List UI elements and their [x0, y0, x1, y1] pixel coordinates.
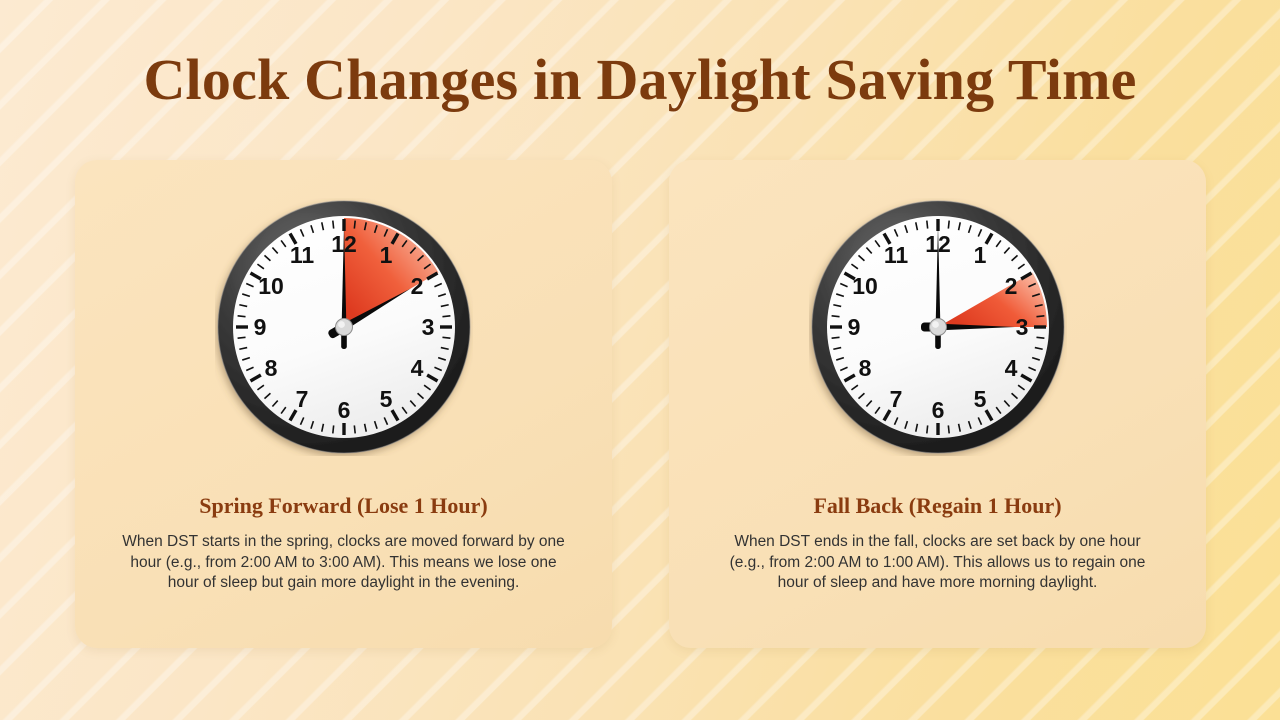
page-title: Clock Changes in Daylight Saving Time	[0, 48, 1280, 112]
svg-text:2: 2	[1004, 273, 1017, 299]
svg-text:10: 10	[258, 273, 284, 299]
card-heading-spring-forward: Spring Forward (Lose 1 Hour)	[93, 492, 594, 520]
svg-text:7: 7	[295, 386, 308, 412]
svg-text:7: 7	[889, 386, 902, 412]
card-body-fall-back: When DST ends in the fall, clocks are se…	[715, 532, 1160, 594]
svg-text:8: 8	[858, 355, 871, 381]
card-heading-fall-back: Fall Back (Regain 1 Hour)	[687, 492, 1188, 520]
svg-text:11: 11	[289, 242, 314, 268]
svg-text:1: 1	[973, 242, 986, 268]
card-body-spring-forward: When DST starts in the spring, clocks ar…	[113, 532, 574, 594]
svg-text:3: 3	[421, 314, 434, 340]
svg-text:5: 5	[973, 386, 986, 412]
card-fall-back: 12 1 2 3 4 5 6 7 8 9 10 11	[669, 160, 1206, 648]
card-spring-forward: 12 1 2 3 4 5 6 7 8 9 10 11	[75, 160, 612, 648]
svg-text:5: 5	[379, 386, 392, 412]
svg-text:6: 6	[337, 397, 350, 423]
svg-text:1: 1	[379, 242, 392, 268]
svg-text:4: 4	[410, 355, 423, 381]
svg-text:2: 2	[410, 273, 423, 299]
svg-text:9: 9	[847, 314, 860, 340]
svg-text:10: 10	[852, 273, 878, 299]
clock-spring-forward: 12 1 2 3 4 5 6 7 8 9 10 11	[215, 198, 473, 456]
analog-clock-fall-back-svg: 12 1 2 3 4 5 6 7 8 9 10 11	[809, 198, 1067, 456]
clock-center-hub	[929, 319, 946, 336]
clock-center-hub	[335, 319, 352, 336]
svg-text:6: 6	[931, 397, 944, 423]
svg-text:4: 4	[1004, 355, 1017, 381]
svg-text:3: 3	[1015, 314, 1028, 340]
svg-text:8: 8	[264, 355, 277, 381]
svg-text:11: 11	[883, 242, 908, 268]
svg-text:9: 9	[253, 314, 266, 340]
clock-fall-back: 12 1 2 3 4 5 6 7 8 9 10 11	[809, 198, 1067, 456]
analog-clock-spring-forward-svg: 12 1 2 3 4 5 6 7 8 9 10 11	[215, 198, 473, 456]
